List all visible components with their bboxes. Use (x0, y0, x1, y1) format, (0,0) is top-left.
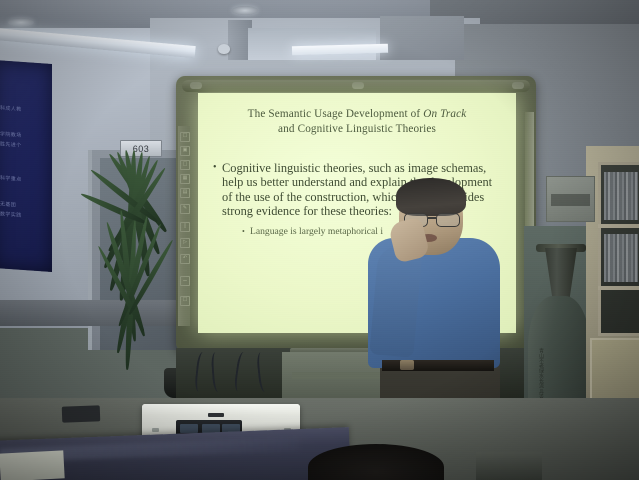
vga-port-icon (180, 424, 198, 433)
undo-icon[interactable]: ↶ (180, 254, 190, 264)
eyeglasses-bridge (428, 217, 436, 219)
bookcase-shelf (598, 286, 639, 290)
slide-title: The Semantic Usage Development of On Tra… (198, 107, 516, 137)
print-icon[interactable]: ☐ (180, 132, 190, 142)
books (604, 172, 638, 220)
save-icon[interactable]: ▣ (180, 146, 190, 156)
pointer-icon[interactable]: ▷ (180, 238, 190, 248)
table-object (62, 405, 101, 422)
papers-on-table (0, 450, 65, 480)
slide-title-emphasis: On Track (423, 108, 466, 120)
eraser-icon[interactable]: ▯ (180, 222, 190, 232)
ir-receiver-icon (208, 413, 224, 417)
slide-title-line2: and Cognitive Linguistic Theories (278, 123, 436, 135)
notice-line: 数学实践 (0, 210, 22, 219)
speaker-hair (396, 178, 466, 216)
frame-icon[interactable]: ☐ (180, 296, 190, 306)
downlight-icon (232, 6, 258, 15)
partition-right (380, 16, 464, 60)
downlight-icon (8, 18, 34, 27)
pen-icon[interactable]: ✎ (180, 204, 190, 214)
smartboard-side-panel[interactable]: ☐ ▣ □ ▦ ▤ ✎ ▯ ▷ ↶ ⚊ ☐ (178, 126, 190, 326)
slide-title-line1-pre: The Semantic Usage Development of (248, 108, 424, 120)
notice-line: 科成人教 (0, 104, 22, 113)
notice-line: 胜先进个 (0, 140, 22, 149)
books (604, 234, 638, 282)
bullet-2-text: Language is largely metaphorical i (250, 226, 383, 237)
wall-control-box[interactable] (546, 176, 595, 222)
notice-line: 学院教场 (0, 130, 22, 139)
keyboard-icon[interactable]: ⚊ (180, 276, 190, 286)
grid-icon[interactable]: ▤ (180, 188, 190, 198)
screen-knob (190, 82, 202, 89)
notice-line: 无基团 (0, 200, 16, 208)
belt-buckle (400, 360, 414, 370)
lecture-room-screenshot: 科成人教 学院教场 胜先进个 科学重点 无基团 数学实践 603 (0, 0, 639, 480)
bookcase-shelf (598, 224, 639, 228)
chair-right (476, 452, 542, 480)
projector-indicator (152, 428, 159, 432)
smoke-detector-icon (218, 44, 230, 54)
speaker-belt (382, 360, 494, 371)
wall-control-label (551, 194, 590, 206)
notice-board: 科成人教 学院教场 胜先进个 科学重点 无基团 数学实践 (0, 60, 52, 272)
sub-bullet-marker-icon: • (242, 226, 245, 238)
copy-icon[interactable]: ▦ (180, 174, 190, 184)
eyeglasses-icon (436, 213, 460, 227)
screen-knob (352, 82, 364, 89)
notice-line: 科学重点 (0, 174, 22, 183)
bullet-marker-icon: • (213, 161, 217, 175)
screen-knob (512, 82, 524, 89)
page-icon[interactable]: □ (180, 160, 190, 170)
